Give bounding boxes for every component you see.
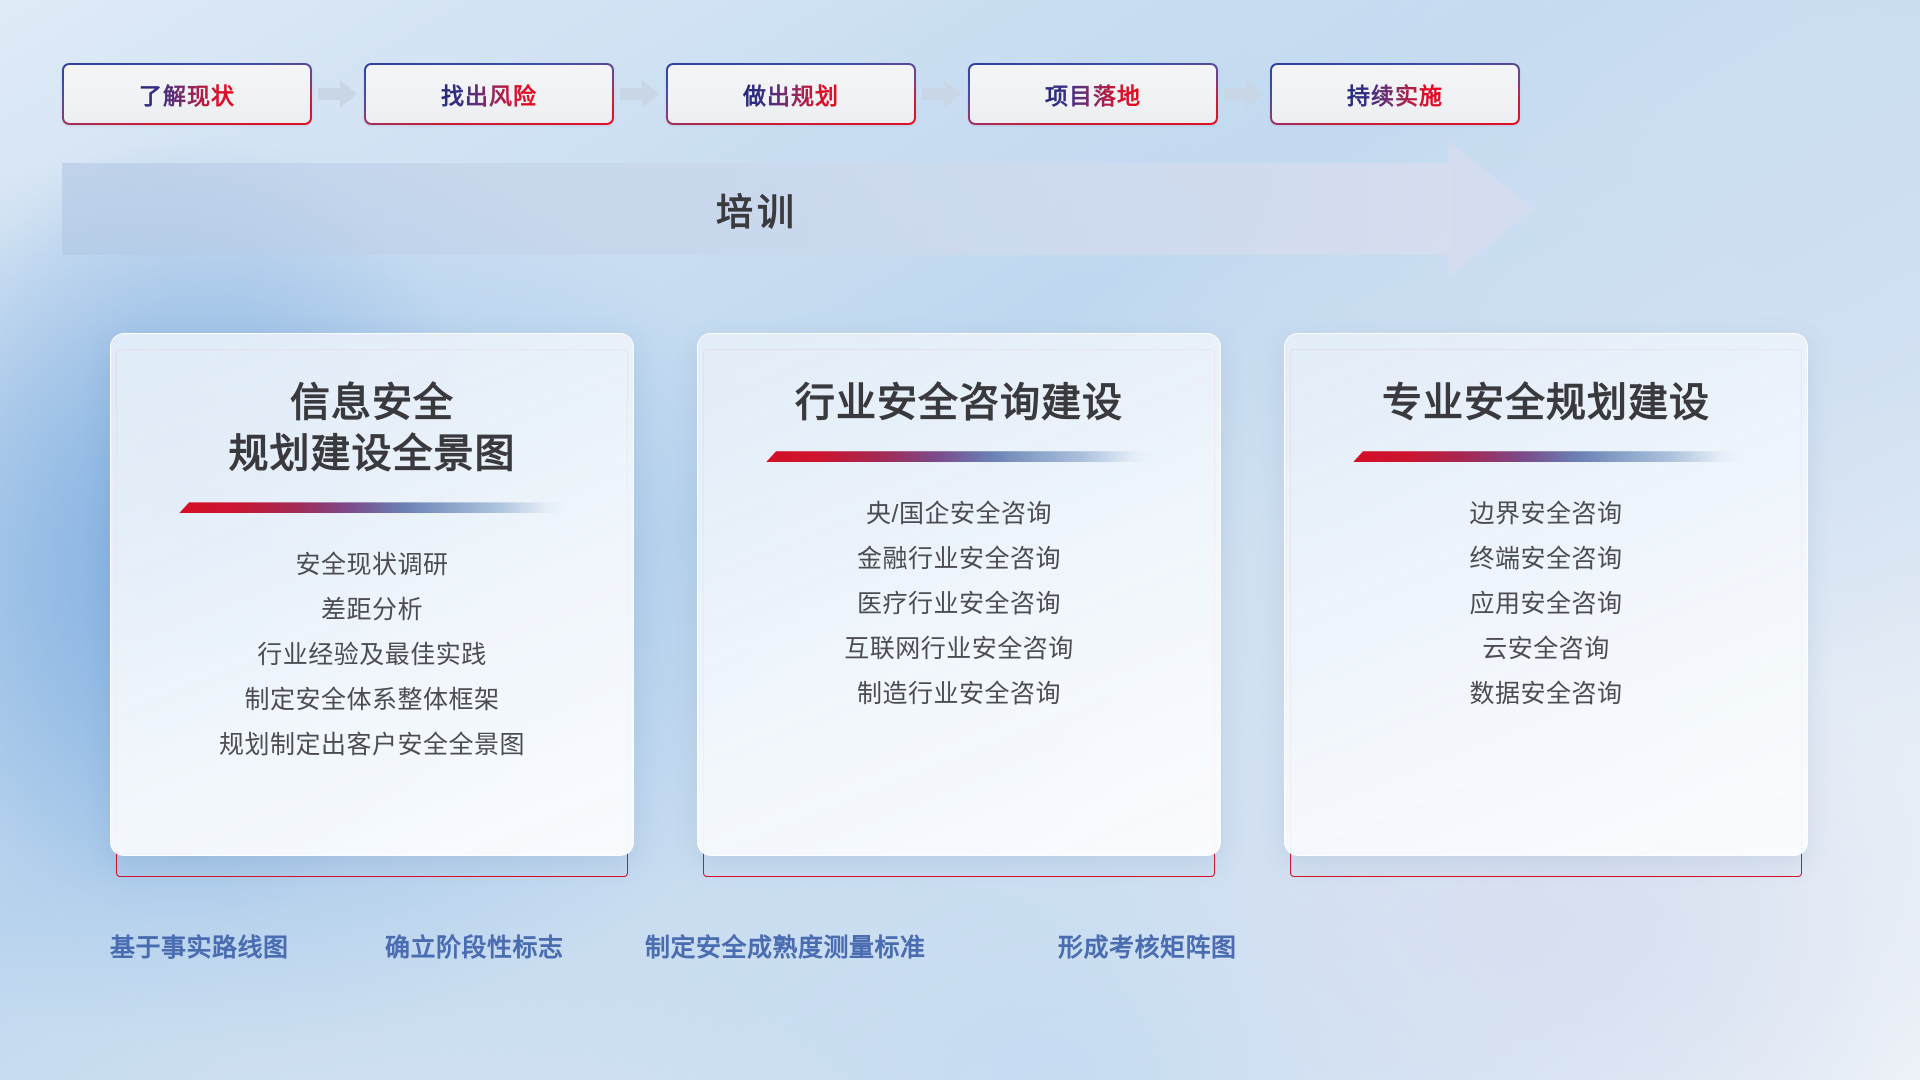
list-item: 差距分析 [111,588,633,633]
card-item-list: 央/国企安全咨询 金融行业安全咨询 医疗行业安全咨询 互联网行业安全咨询 制造行… [698,492,1220,717]
step-label-2: 找出风险 [441,77,537,111]
card-item-list: 安全现状调研 差距分析 行业经验及最佳实践 制定安全体系整体框架 规划制定出客户… [111,543,633,768]
card-item-list: 边界安全咨询 终端安全咨询 应用安全咨询 云安全咨询 数据安全咨询 [1285,492,1807,717]
banner-arrowhead-icon [1448,141,1534,277]
card-industry-security-consulting[interactable]: 行业安全咨询建设 央/国企安全咨询 金融行业安全咨询 医疗行业安全咨询 互联网行… [697,333,1221,856]
arrow-right-icon [1218,63,1270,125]
card-divider [1353,451,1739,462]
list-item: 云安全咨询 [1285,627,1807,672]
card-divider [766,451,1152,462]
bottom-label-row: 基于事实路线图 确立阶段性标志 制定安全成熟度测量标准 形成考核矩阵图 [0,928,1920,978]
list-item: 应用安全咨询 [1285,582,1807,627]
card-wrap-1: 信息安全 规划建设全景图 安全现状调研 差距分析 行业经验及最佳实践 制定安全体… [110,333,634,878]
slide-canvas: 了解现状 找出风险 做出规划 项目落地 [0,0,1920,1080]
step-box-3[interactable]: 做出规划 [666,63,916,125]
step-label-1: 了解现状 [139,77,235,111]
list-item: 数据安全咨询 [1285,672,1807,717]
step-box-2[interactable]: 找出风险 [364,63,614,125]
step-box-1[interactable]: 了解现状 [62,63,312,125]
card-wrap-2: 行业安全咨询建设 央/国企安全咨询 金融行业安全咨询 医疗行业安全咨询 互联网行… [697,333,1221,878]
card-group: 信息安全 规划建设全景图 安全现状调研 差距分析 行业经验及最佳实践 制定安全体… [110,333,1810,878]
step-label-3: 做出规划 [743,77,839,111]
list-item: 互联网行业安全咨询 [698,627,1220,672]
card-wrap-3: 专业安全规划建设 边界安全咨询 终端安全咨询 应用安全咨询 云安全咨询 数据安全… [1284,333,1808,878]
arrow-right-icon [916,63,968,125]
bottom-label-4: 形成考核矩阵图 [1058,928,1237,964]
list-item: 终端安全咨询 [1285,537,1807,582]
list-item: 央/国企安全咨询 [698,492,1220,537]
bottom-label-3: 制定安全成熟度测量标准 [645,928,926,964]
card-info-security-panorama[interactable]: 信息安全 规划建设全景图 安全现状调研 差距分析 行业经验及最佳实践 制定安全体… [110,333,634,856]
card-title: 信息安全 规划建设全景图 [229,378,516,480]
bottom-label-2: 确立阶段性标志 [385,928,564,964]
list-item: 安全现状调研 [111,543,633,588]
list-item: 边界安全咨询 [1285,492,1807,537]
card-title: 行业安全咨询建设 [795,378,1123,429]
step-label-5: 持续实施 [1347,77,1443,111]
arrow-right-icon [614,63,666,125]
card-divider [179,502,565,513]
arrow-right-icon [312,63,364,125]
list-item: 行业经验及最佳实践 [111,633,633,678]
step-box-4[interactable]: 项目落地 [968,63,1218,125]
list-item: 制定安全体系整体框架 [111,678,633,723]
process-step-row: 了解现状 找出风险 做出规划 项目落地 [62,63,1862,125]
bottom-label-1: 基于事实路线图 [110,928,289,964]
list-item: 医疗行业安全咨询 [698,582,1220,627]
card-professional-security-planning[interactable]: 专业安全规划建设 边界安全咨询 终端安全咨询 应用安全咨询 云安全咨询 数据安全… [1284,333,1808,856]
list-item: 制造行业安全咨询 [698,672,1220,717]
banner-title: 培训 [62,163,1452,255]
card-title: 专业安全规划建设 [1382,378,1710,429]
list-item: 规划制定出客户安全全景图 [111,723,633,768]
step-box-5[interactable]: 持续实施 [1270,63,1520,125]
training-banner: 培训 [62,163,1512,255]
list-item: 金融行业安全咨询 [698,537,1220,582]
step-label-4: 项目落地 [1045,77,1141,111]
